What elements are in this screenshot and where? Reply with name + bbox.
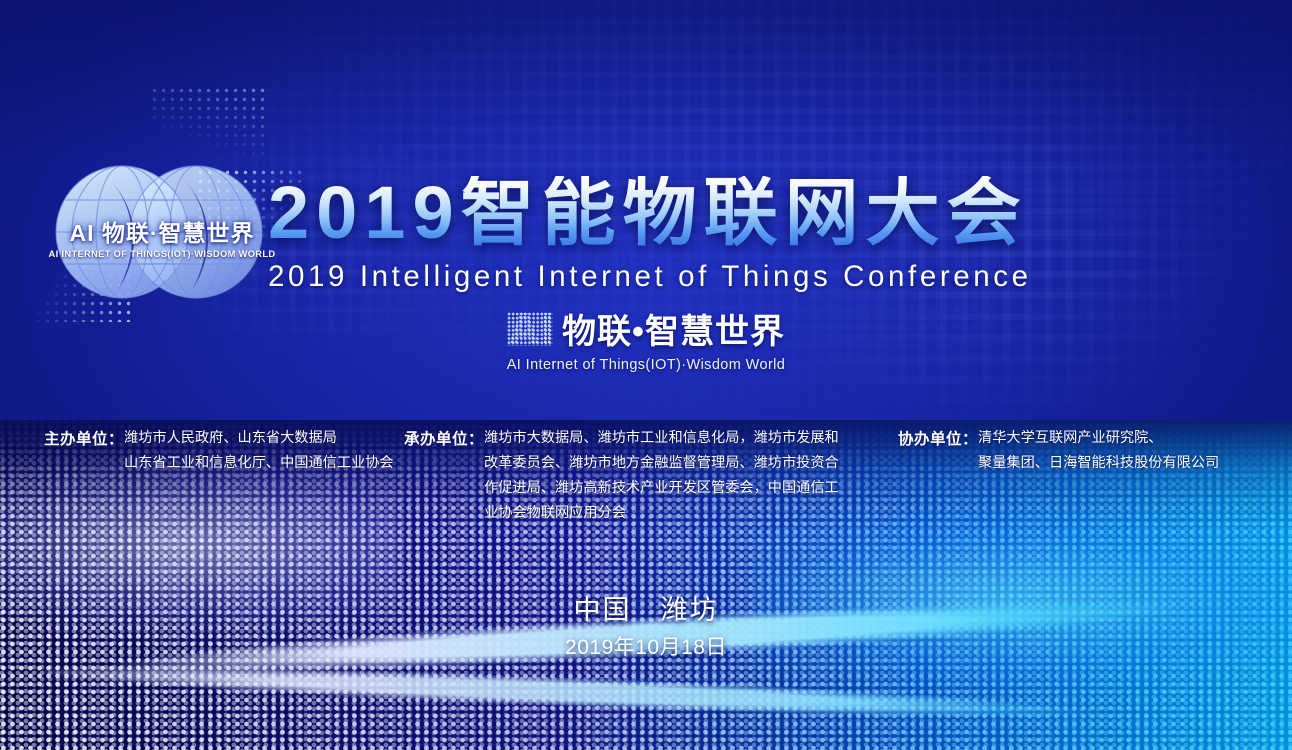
conference-logo: AI 物联·智慧世界 AI INTERNET OF THINGS(IOT)·WI…	[44, 158, 280, 306]
organizer-label-host: 主办单位：	[44, 426, 124, 449]
footer-block: 中国 潍坊 2019年10月18日	[0, 588, 1292, 661]
organizer-line: 作促进局、潍坊高新技术产业开发区管委会，中国通信工	[484, 476, 839, 501]
organizer-block-host: 主办单位： 潍坊市人民政府、山东省大数据局 山东省工业和信息化厅、中国通信工业协…	[44, 426, 394, 476]
organizer-line: 聚量集团、日海智能科技股份有限公司	[978, 451, 1219, 476]
organizer-body-host: 潍坊市人民政府、山东省大数据局 山东省工业和信息化厅、中国通信工业协会	[124, 426, 394, 476]
organizer-block-organizer: 承办单位： 潍坊市大数据局、潍坊市工业和信息化局，潍坊市发展和 改革委员会、潍坊…	[404, 426, 839, 526]
organizer-line: 清华大学互联网产业研究院、	[978, 426, 1219, 451]
slogan-chinese: 物联•智慧世界	[562, 304, 785, 353]
organizer-line: 潍坊市大数据局、潍坊市工业和信息化局，潍坊市发展和	[484, 426, 839, 451]
organizer-body-coorganizer: 清华大学互联网产业研究院、 聚量集团、日海智能科技股份有限公司	[978, 426, 1219, 476]
organizer-label-coorganizer: 协办单位：	[898, 426, 978, 449]
organizer-block-coorganizer: 协办单位： 清华大学互联网产业研究院、 聚量集团、日海智能科技股份有限公司	[898, 426, 1219, 476]
event-date: 2019年10月18日	[0, 631, 1292, 661]
organizer-line: 潍坊市人民政府、山东省大数据局	[124, 426, 394, 451]
organizer-section: 主办单位： 潍坊市人民政府、山东省大数据局 山东省工业和信息化厅、中国通信工业协…	[0, 424, 1292, 554]
organizer-line: 山东省工业和信息化厅、中国通信工业协会	[124, 451, 394, 476]
organizer-body-organizer: 潍坊市大数据局、潍坊市工业和信息化局，潍坊市发展和 改革委员会、潍坊市地方金融监…	[484, 426, 839, 526]
title-block: 2019智能物联网大会 2019 Intelligent Internet of…	[268, 176, 1248, 294]
main-title: 2019智能物联网大会	[268, 176, 1248, 250]
organizer-line: 业协会物联网应用分会	[484, 501, 839, 526]
slogan-english: AI Internet of Things(IOT)·Wisdom World	[0, 357, 1292, 373]
slogan-lockup: 物联•智慧世界 AI Internet of Things(IOT)·Wisdo…	[0, 304, 1292, 373]
conference-poster: AI 物联·智慧世界 AI INTERNET OF THINGS(IOT)·WI…	[0, 0, 1292, 750]
organizer-label-organizer: 承办单位：	[404, 426, 484, 449]
organizer-line: 改革委员会、潍坊市地方金融监督管理局、潍坊市投资合	[484, 451, 839, 476]
ai-mark-icon	[507, 312, 553, 346]
halftone-dots-top	[150, 86, 270, 156]
event-location: 中国 潍坊	[0, 588, 1292, 627]
sub-title: 2019 Intelligent Internet of Things Conf…	[268, 260, 1248, 294]
